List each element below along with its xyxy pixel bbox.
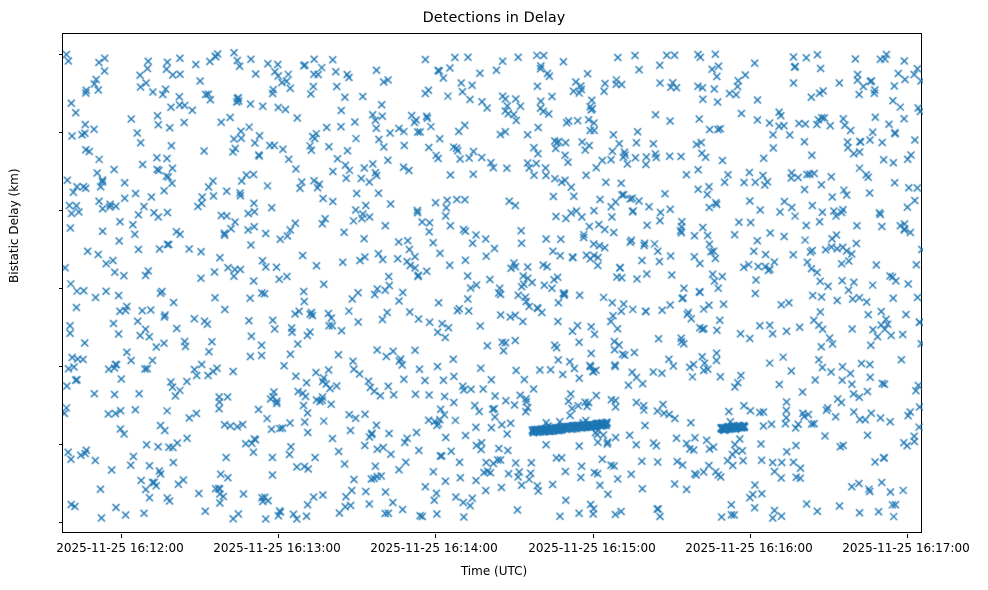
y-tick-mark	[59, 132, 63, 133]
x-tick-label: 2025-11-25 16:14:00	[370, 541, 497, 555]
y-tick-mark	[59, 54, 63, 55]
y-tick-mark	[59, 366, 63, 367]
x-tick-mark	[593, 534, 594, 538]
y-tick-mark	[59, 288, 63, 289]
x-tick-mark	[121, 534, 122, 538]
x-tick-label: 2025-11-25 16:12:00	[56, 541, 183, 555]
x-tick-label: 2025-11-25 16:15:00	[528, 541, 655, 555]
x-tick-label: 2025-11-25 16:13:00	[213, 541, 340, 555]
scatter-plot-area[interactable]	[63, 34, 923, 534]
plot-axes-frame	[62, 33, 922, 533]
x-tick-mark	[278, 534, 279, 538]
x-tick-label: 2025-11-25 16:17:00	[842, 541, 969, 555]
x-tick-mark	[907, 534, 908, 538]
x-axis-label: Time (UTC)	[0, 564, 988, 578]
chart-title: Detections in Delay	[0, 10, 988, 26]
y-tick-mark	[59, 210, 63, 211]
x-tick-mark	[435, 534, 436, 538]
x-tick-mark	[750, 534, 751, 538]
y-tick-mark	[59, 522, 63, 523]
x-tick-label: 2025-11-25 16:16:00	[685, 541, 812, 555]
y-tick-mark	[59, 444, 63, 445]
y-axis-label: Bistatic Delay (km)	[7, 168, 21, 283]
matplotlib-figure: Detections in Delay Bistatic Delay (km) …	[0, 0, 988, 590]
